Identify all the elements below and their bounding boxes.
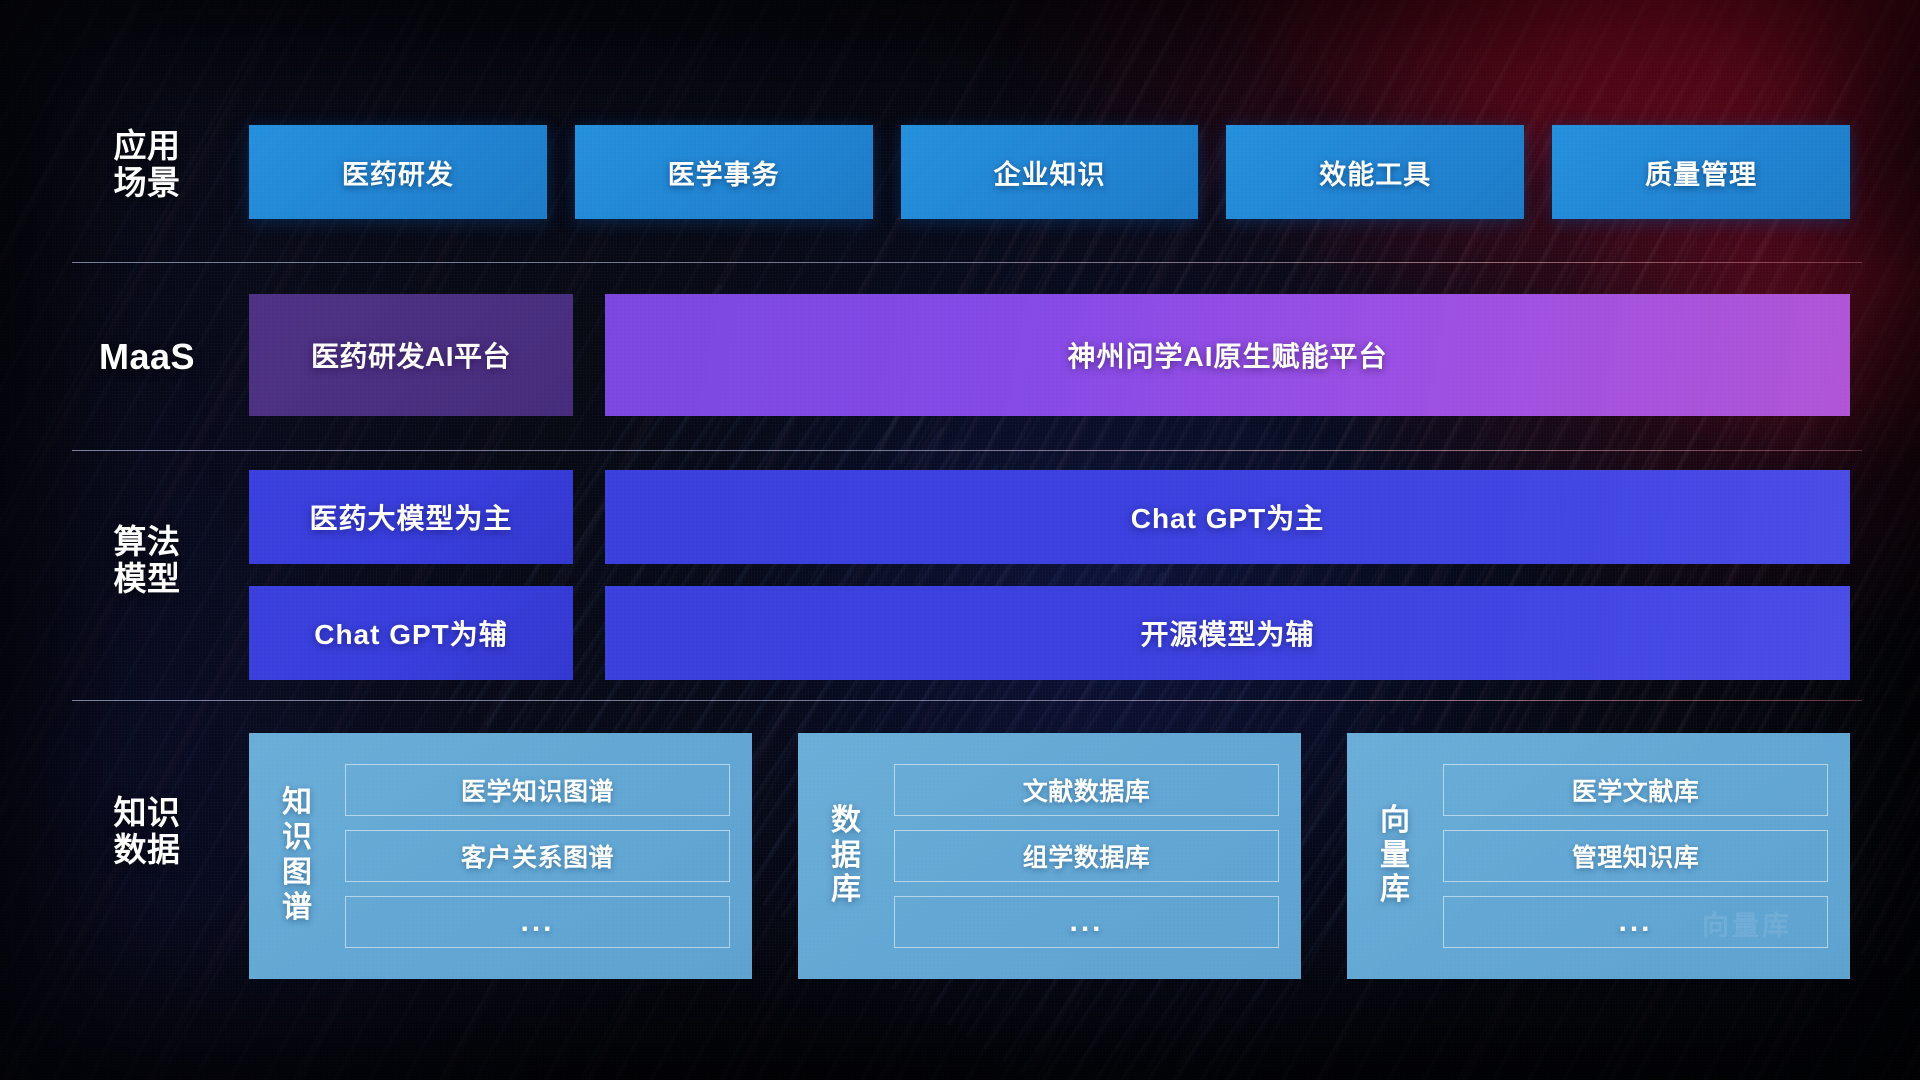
vertical-label-char: 识 [282, 821, 312, 856]
application-box[interactable]: 企业知识 [901, 125, 1199, 219]
knowledge-panel-vector: 向量库 向 量 库 医学文献库 管理知识库 ... [1347, 733, 1850, 979]
knowledge-item[interactable]: 客户关系图谱 [345, 830, 730, 882]
vertical-label-char: 数 [831, 804, 861, 839]
knowledge-item-more[interactable]: ... [894, 896, 1279, 948]
application-box-label: 效能工具 [1319, 153, 1431, 192]
algorithm-box-grid: 医药大模型为主 Chat GPT为主 Chat GPT为辅 开源模型为辅 [249, 470, 1850, 680]
row-label-line: 场景 [72, 165, 222, 202]
vertical-label-char: 图 [282, 856, 312, 891]
algorithm-box-domain-secondary[interactable]: Chat GPT为辅 [249, 586, 573, 680]
application-box-label: 企业知识 [993, 153, 1105, 192]
application-box[interactable]: 医药研发 [249, 125, 547, 219]
knowledge-item-list: 医学知识图谱 客户关系图谱 ... [345, 764, 730, 948]
vertical-label-char: 知 [282, 786, 312, 821]
knowledge-panel-title-vector: 向 量 库 [1347, 804, 1443, 908]
maas-platform-box-enablement[interactable]: 神州问学AI原生赋能平台 [605, 294, 1850, 416]
vertical-label-char: 向 [1380, 804, 1410, 839]
application-box[interactable]: 效能工具 [1226, 125, 1524, 219]
knowledge-item-list: 医学文献库 管理知识库 ... [1443, 764, 1828, 948]
knowledge-item-more[interactable]: ... [1443, 896, 1828, 948]
divider-algorithms-knowledge [72, 700, 1862, 701]
row-label-maas: MaaS [72, 337, 222, 377]
application-box[interactable]: 医学事务 [575, 125, 873, 219]
vertical-label-char: 库 [831, 873, 861, 908]
knowledge-panel-graph: 知 识 图 谱 医学知识图谱 客户关系图谱 ... [249, 733, 752, 979]
algorithm-box-general-primary[interactable]: Chat GPT为主 [605, 470, 1850, 564]
algorithm-box-label: 开源模型为辅 [1140, 613, 1314, 653]
vertical-label-char: 量 [1380, 839, 1410, 874]
row-label-line: 知识 [72, 795, 222, 832]
knowledge-panel-title-graph: 知 识 图 谱 [249, 786, 345, 925]
algorithm-box-label: Chat GPT为辅 [314, 613, 508, 653]
row-label-line: 应用 [72, 128, 222, 165]
vertical-label-char: 据 [831, 839, 861, 874]
algorithm-box-label: Chat GPT为主 [1131, 497, 1325, 537]
maas-platform-label: 神州问学AI原生赋能平台 [1067, 335, 1387, 375]
row-label-line: 算法 [72, 524, 222, 561]
knowledge-item[interactable]: 管理知识库 [1443, 830, 1828, 882]
knowledge-item-more[interactable]: ... [345, 896, 730, 948]
application-box-label: 质量管理 [1645, 153, 1757, 192]
algorithm-row-secondary: Chat GPT为辅 开源模型为辅 [249, 586, 1850, 680]
algorithm-box-domain-primary[interactable]: 医药大模型为主 [249, 470, 573, 564]
application-box[interactable]: 质量管理 [1552, 125, 1850, 219]
knowledge-item[interactable]: 医学知识图谱 [345, 764, 730, 816]
row-label-line: 模型 [72, 561, 222, 598]
knowledge-item[interactable]: 组学数据库 [894, 830, 1279, 882]
row-label-algorithms: 算法 模型 [72, 524, 222, 598]
algorithm-row-primary: 医药大模型为主 Chat GPT为主 [249, 470, 1850, 564]
architecture-diagram-slide: 应用 场景 医药研发 医学事务 企业知识 效能工具 质量管理 [0, 0, 1920, 1080]
knowledge-item-list: 文献数据库 组学数据库 ... [894, 764, 1279, 948]
knowledge-panel-title-database: 数 据 库 [798, 804, 894, 908]
maas-box-list: 医药研发AI平台 神州问学AI原生赋能平台 [249, 294, 1850, 416]
algorithm-box-general-secondary[interactable]: 开源模型为辅 [605, 586, 1850, 680]
application-box-label: 医药研发 [342, 153, 454, 192]
application-box-label: 医学事务 [668, 153, 780, 192]
row-label-applications: 应用 场景 [72, 128, 222, 202]
vertical-label-char: 谱 [282, 891, 312, 926]
row-label-line: 数据 [72, 832, 222, 869]
divider-maas-algorithms [72, 450, 1862, 451]
knowledge-panel-database: 数 据 库 文献数据库 组学数据库 ... [798, 733, 1301, 979]
algorithm-box-label: 医药大模型为主 [309, 497, 512, 537]
row-label-knowledge: 知识 数据 [72, 795, 222, 869]
maas-platform-box-primary[interactable]: 医药研发AI平台 [249, 294, 573, 416]
divider-applications-maas [72, 262, 1862, 263]
application-box-list: 医药研发 医学事务 企业知识 效能工具 质量管理 [249, 125, 1850, 219]
vertical-label-char: 库 [1380, 873, 1410, 908]
knowledge-panel-list: 知 识 图 谱 医学知识图谱 客户关系图谱 ... [249, 733, 1850, 979]
knowledge-item[interactable]: 文献数据库 [894, 764, 1279, 816]
knowledge-item[interactable]: 医学文献库 [1443, 764, 1828, 816]
maas-platform-label: 医药研发AI平台 [311, 335, 511, 375]
